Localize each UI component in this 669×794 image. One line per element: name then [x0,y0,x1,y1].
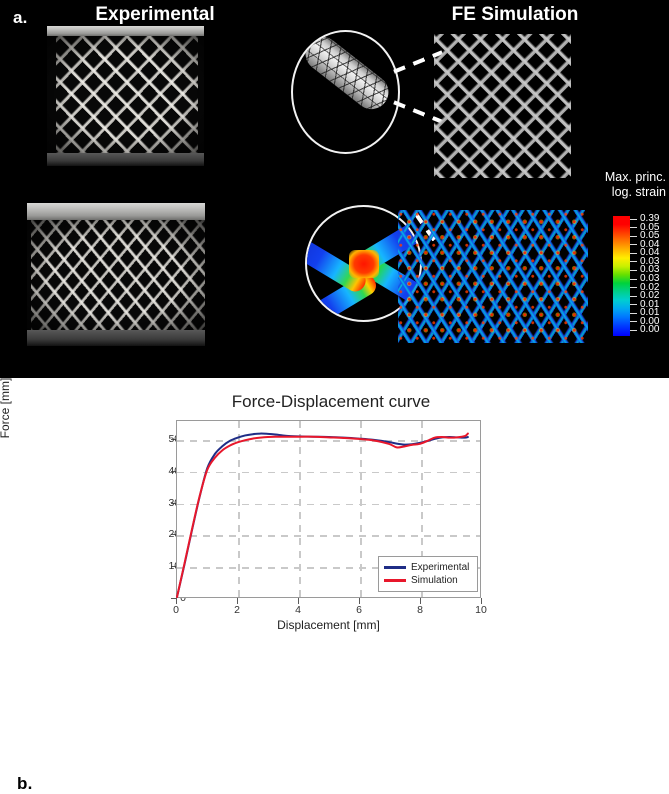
lattice-specimen-top [47,36,204,153]
x-tick-label: 8 [405,604,435,616]
fe-lattice-deformed-strain [398,210,588,343]
fe-node-strain-hotspots [398,210,588,343]
colorbar-tick-mark [630,287,637,288]
colorbar-tick-mark [630,321,637,322]
colorbar-tick-mark [630,270,637,271]
fe-lattice-weave-pattern [434,34,571,178]
colorbar-title-line1: Max. princ. [574,170,666,185]
x-tick-label: 4 [283,604,313,616]
colorbar-tick-mark [630,219,637,220]
colorbar-gradient [613,216,630,336]
column-title-experimental: Experimental [60,4,250,26]
photo-vignette [47,36,204,153]
colorbar-tick-mark [630,330,637,331]
colorbar-tick-mark [630,313,637,314]
colorbar-tick-mark [630,244,637,245]
colorbar-tick-mark [630,253,637,254]
panel-a-microct-fe: a. Experimental FE Simulation [0,0,669,378]
chart-title: Force-Displacement curve [176,392,486,412]
panel-b-label: b. [17,774,33,794]
experimental-photo-deformed [27,203,205,346]
lattice-specimen-bottom [27,220,205,330]
colorbar-tick-mark [630,261,637,262]
chart-legend: ExperimentalSimulation [378,556,478,592]
legend-item[interactable]: Experimental [384,561,472,574]
strut-cylinder-icon [299,30,396,116]
legend-label: Simulation [411,575,458,586]
legend-item[interactable]: Simulation [384,574,472,587]
triangular-mesh-overlay [299,30,396,116]
legend-swatch [384,566,406,569]
fe-lattice-undeformed [434,34,571,178]
x-axis-label: Displacement [mm] [176,618,481,632]
base-platen-icon [27,330,205,346]
colorbar-tick-label: 0.00 [640,326,659,334]
x-tick-label: 2 [222,604,252,616]
legend-label: Experimental [411,562,469,573]
y-axis-label: Force [mm] [0,338,12,478]
colorbar-tick-mark [630,279,637,280]
colorbar-title: Max. princ. log. strain [574,170,666,200]
colorbar-tick-mark [630,236,637,237]
colorbar-tick-mark [630,304,637,305]
compression-platen-icon [27,203,205,220]
colorbar-title-line2: log. strain [574,185,666,200]
base-platen-icon [47,153,204,166]
strain-colorbar: 0.390.050.050.040.040.030.030.030.020.02… [613,216,669,336]
legend-swatch [384,579,406,582]
experimental-photo-undeformed [47,26,204,166]
x-tick-label: 0 [161,604,191,616]
x-tick-label: 10 [466,604,496,616]
colorbar-tick: 0.00 [630,326,659,334]
inset-strut-mesh-circle [291,30,400,154]
colorbar-tick-mark [630,227,637,228]
strain-hotspot [349,250,379,278]
panel-b-force-displacement: b. Force-Displacement curve Force [mm] D… [0,378,669,636]
colorbar-tick-mark [630,296,637,297]
compression-platen-icon [47,26,204,36]
x-tick-label: 6 [344,604,374,616]
panel-a-label: a. [13,8,28,28]
photo-vignette [27,220,205,330]
column-title-fe-simulation: FE Simulation [415,4,615,26]
